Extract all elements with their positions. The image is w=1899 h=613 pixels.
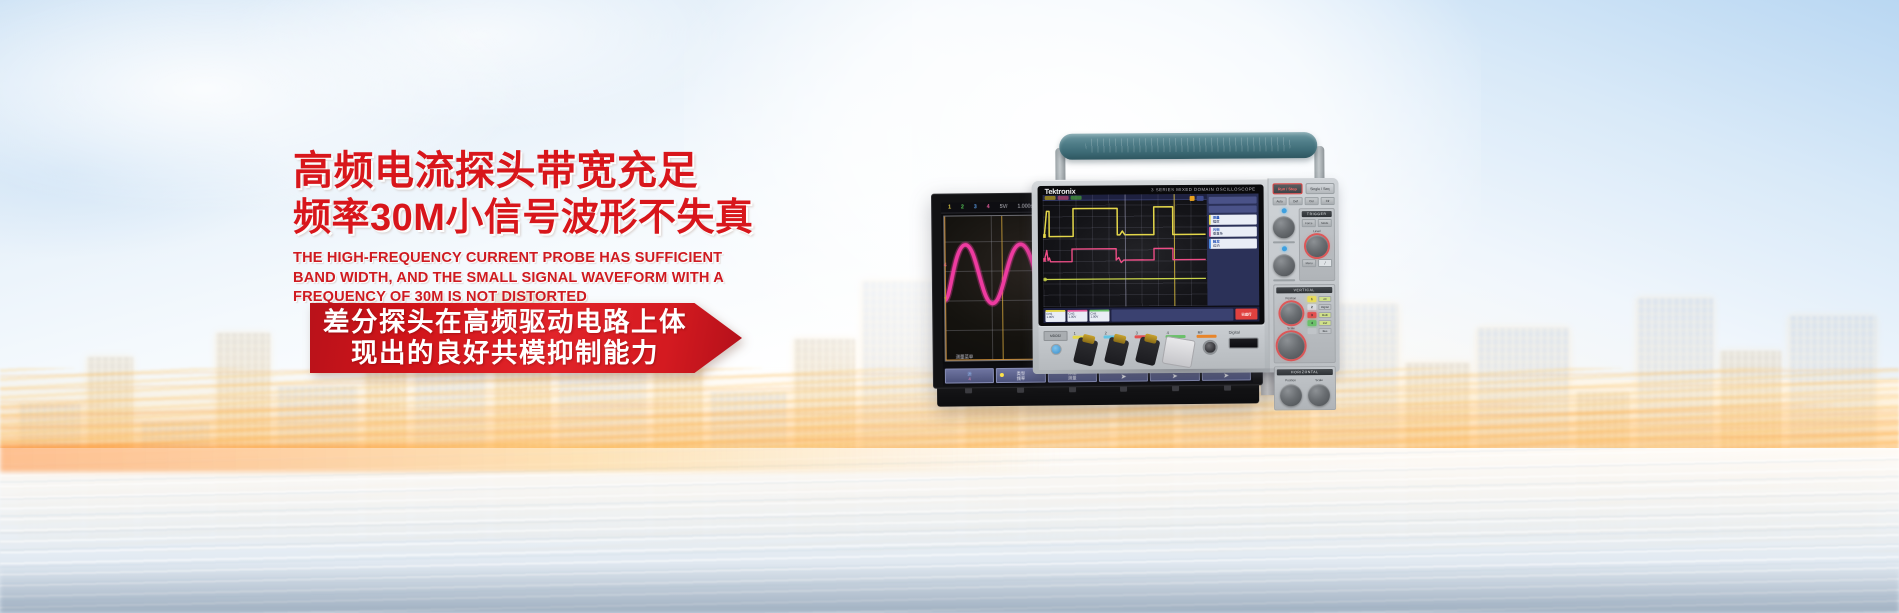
trigger-mode-button[interactable]: Mode <box>1318 219 1332 227</box>
keysight-cursor-a[interactable] <box>1001 216 1004 360</box>
cursor-button[interactable]: Cur <box>1305 197 1319 205</box>
tektronix-input-ch3[interactable]: 3 <box>1135 330 1161 364</box>
keysight-vertical-scale: 5V/ <box>995 204 1013 210</box>
math-button[interactable]: Math <box>1318 312 1331 318</box>
digital-button[interactable]: Digital <box>1318 304 1331 310</box>
knob-a-led-icon <box>1281 208 1286 213</box>
highlight-ribbon: 差分探头在高频驱动电路上体 现出的良好共模抑制能力 <box>310 303 742 373</box>
tektronix-control-panel: Run / Stop Single / Seq Auto Def Cur Clr <box>1267 178 1339 372</box>
multipurpose-knob-a[interactable] <box>1273 216 1295 238</box>
power-button-icon[interactable] <box>1050 344 1061 355</box>
road-warm-streak <box>0 444 1063 472</box>
tektronix-side-menu[interactable]: 测量 幅度 光标 垂直条 触发 边沿 <box>1207 193 1260 305</box>
headline-line-1: 高频电流探头带宽充足 <box>293 148 763 194</box>
ribbon-text: 差分探头在高频驱动电路上体 现出的良好共模抑制能力 <box>310 303 742 373</box>
tektronix-utility-buttons: Auto Def Cur Clr <box>1273 197 1335 205</box>
tektronix-rf-bnc-connector <box>1202 339 1217 354</box>
keysight-softkey-led <box>1000 373 1004 377</box>
tektronix-display-column: Tektronix 3 SERIES MIXED DOMAIN OSCILLOS… <box>1031 178 1268 374</box>
bus-button[interactable]: Bus <box>1319 328 1332 334</box>
tektronix-bottom-spacer <box>1111 308 1233 321</box>
tektronix-input-ch1[interactable]: 1 <box>1073 331 1099 365</box>
multipurpose-knob-b[interactable] <box>1273 254 1295 276</box>
knob-b-push-button[interactable] <box>1273 279 1295 281</box>
tektronix-rf-color-bar <box>1197 335 1217 338</box>
tektronix-input-rf[interactable]: RF <box>1197 330 1223 355</box>
ribbon-line-2: 现出的良好共模抑制能力 <box>351 338 659 369</box>
channel-4-button[interactable]: 4 <box>1307 320 1316 326</box>
tektronix-bottom-card-ch1[interactable]: CH1 1.00V <box>1045 309 1065 321</box>
tektronix-multipurpose-knobs <box>1273 208 1296 281</box>
ribbon-line-1: 差分探头在高频驱动电路上体 <box>323 307 687 338</box>
tektronix-chassis: Tektronix 3 SERIES MIXED DOMAIN OSCILLOS… <box>1031 178 1337 374</box>
subtitle-english: THE HIGH-FREQUENCY CURRENT PROBE HAS SUF… <box>293 249 751 308</box>
all-channels-button[interactable]: All <box>1318 296 1331 302</box>
trigger-menu-button[interactable]: Menu <box>1302 259 1316 267</box>
keysight-ch1-indicator[interactable]: 1 <box>943 204 956 210</box>
knob-b-led-icon <box>1281 246 1286 251</box>
tektronix-bottom-badges[interactable]: CH1 1.00V CH3 1.00V CH4 1.00V 已运行 <box>1043 306 1259 323</box>
tektronix-input-digital[interactable]: Digital <box>1228 329 1260 348</box>
tektronix-ch4-probe-module <box>1162 335 1196 368</box>
tektronix-menu-button[interactable] <box>1209 196 1257 203</box>
knob-a-push-button[interactable] <box>1273 241 1295 243</box>
tektronix-upper-knob-area: TRIGGER Force Mode Level Menu ╱ <box>1273 208 1336 281</box>
tektronix-input-ch4[interactable]: 4 <box>1166 330 1192 366</box>
promo-banner: 高频电流探头带宽充足 频率30M小信号波形不失真 THE HIGH-FREQUE… <box>0 0 1899 613</box>
tektronix-display[interactable]: 测量 幅度 光标 垂直条 触发 边沿 <box>1043 193 1260 307</box>
oscilloscope-tektronix: Tektronix 3 SERIES MIXED DOMAIN OSCILLOS… <box>1031 132 1338 374</box>
keysight-softkey-title: 测量菜单 <box>956 354 974 360</box>
trigger-level-label: Level <box>1313 229 1320 233</box>
tektronix-ch2-probe-plug <box>1104 336 1130 366</box>
horizontal-scale-knob[interactable] <box>1308 384 1330 406</box>
tektronix-menu-button[interactable] <box>1209 205 1257 212</box>
default-button[interactable]: Def <box>1289 197 1303 205</box>
channel-spare-button[interactable] <box>1308 328 1317 334</box>
vertical-scale-knob[interactable] <box>1278 332 1305 359</box>
channel-1-button[interactable]: 1 <box>1307 296 1316 302</box>
keysight-ch3-indicator[interactable]: 3 <box>969 204 982 210</box>
keysight-ch4-indicator[interactable]: 4 <box>982 204 995 210</box>
tektronix-model-badge: MDO32 <box>1044 331 1068 341</box>
autoset-button[interactable]: Auto <box>1273 197 1287 205</box>
tektronix-badge-cursor[interactable]: 光标 垂直条 <box>1209 226 1257 236</box>
run-stop-button[interactable]: Run / Stop <box>1273 183 1303 194</box>
keysight-channel-marker: 4 <box>944 263 947 269</box>
headline-line-2: 频率30M小信号波形不失真 <box>293 196 763 240</box>
trigger-slope-icon[interactable]: ╱ <box>1318 259 1332 267</box>
tektronix-digital-port <box>1229 337 1259 348</box>
tektronix-bottom-card-ch3[interactable]: CH3 1.00V <box>1067 309 1087 321</box>
tektronix-carry-handle[interactable] <box>1059 132 1317 160</box>
road-shadow <box>0 564 1899 613</box>
tektronix-run-status-badge[interactable]: 已运行 <box>1235 308 1257 319</box>
tektronix-acquisition-buttons: Run / Stop Single / Seq <box>1273 183 1335 194</box>
clear-button[interactable]: Clr <box>1321 197 1335 205</box>
tektronix-ch3-probe-plug <box>1135 336 1161 366</box>
tektronix-badge-measure[interactable]: 测量 幅度 <box>1209 214 1257 224</box>
probe-status-led-icon <box>1173 338 1176 355</box>
tektronix-bottom-card-ch4[interactable]: CH4 1.00V <box>1089 309 1109 321</box>
tektronix-front-connectors: MDO32 1 2 3 <box>1039 324 1265 370</box>
vertical-channel-buttons: 1All 2Digital 3Math 4Ref Bus <box>1307 296 1331 359</box>
tektronix-badge-trigger[interactable]: 触发 边沿 <box>1209 238 1257 248</box>
tektronix-screen-frame: Tektronix 3 SERIES MIXED DOMAIN OSCILLOS… <box>1038 184 1265 326</box>
tektronix-drop-shadow <box>1043 368 1328 382</box>
trigger-force-button[interactable]: Force <box>1302 219 1316 227</box>
tektronix-waveforms <box>1043 194 1208 290</box>
vertical-position-label: Position <box>1285 296 1296 300</box>
ref-button[interactable]: Ref <box>1318 320 1331 326</box>
horizontal-position-knob[interactable] <box>1280 384 1302 406</box>
channel-3-button[interactable]: 3 <box>1307 312 1316 318</box>
keysight-softkey-source[interactable]: 源 4 <box>945 368 994 384</box>
trigger-section: TRIGGER Force Mode Level Menu ╱ <box>1299 208 1336 281</box>
tektronix-waveform-grid[interactable] <box>1043 194 1208 307</box>
keysight-ch2-indicator[interactable]: 2 <box>956 204 969 210</box>
trigger-level-knob[interactable] <box>1306 235 1328 257</box>
keysight-ground-marker: T <box>944 297 947 303</box>
single-seq-button[interactable]: Single / Seq <box>1305 183 1335 194</box>
channel-2-button[interactable]: 2 <box>1307 304 1316 310</box>
tektronix-model-text: 3 SERIES MIXED DOMAIN OSCILLOSCOPE <box>1151 187 1255 193</box>
tektronix-input-ch2[interactable]: 2 <box>1104 330 1130 364</box>
headline-block: 高频电流探头带宽充足 频率30M小信号波形不失真 THE HIGH-FREQUE… <box>293 148 763 308</box>
vertical-scale-label: Scale <box>1287 326 1295 330</box>
vertical-section: VERTICAL Position Scale 1All 2Digital 3M… <box>1273 284 1336 363</box>
tektronix-ch1-probe-plug <box>1073 336 1099 366</box>
vertical-position-knob[interactable] <box>1280 302 1302 324</box>
